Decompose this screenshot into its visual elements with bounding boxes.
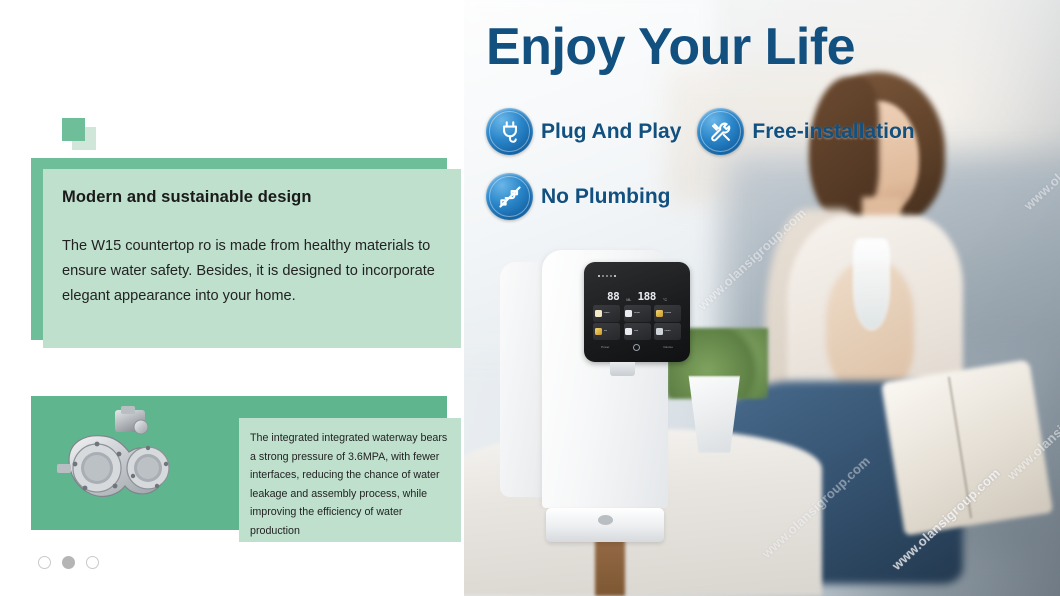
card-description: The integrated integrated waterway bears… <box>239 418 461 542</box>
preset-label: Milk <box>634 330 638 333</box>
bottle-icon <box>625 310 632 317</box>
product-banner: Modern and sustainable design The W15 co… <box>0 0 1060 596</box>
badge-label: Plug And Play <box>541 120 681 144</box>
wrench-screwdriver-icon <box>697 108 744 155</box>
volume-button-label[interactable]: Volume <box>663 345 673 349</box>
lock-icon <box>606 275 608 277</box>
alert-icon <box>610 275 612 277</box>
preset-button-coffee[interactable]: Coffee <box>654 305 681 321</box>
milk-icon <box>625 328 632 335</box>
decorative-square-front <box>62 118 85 141</box>
clean-icon <box>656 328 663 335</box>
filter-icon <box>602 275 604 277</box>
feature-card-waterway: The integrated integrated waterway bears… <box>31 396 461 542</box>
card-title: Modern and sustainable design <box>62 188 439 208</box>
badge-label: Free-installation <box>752 120 914 144</box>
preset-button-milk[interactable]: Milk <box>624 323 651 339</box>
preset-label: Water <box>603 312 609 315</box>
badge-row-1: Plug And Play Free-installation <box>486 108 1046 155</box>
status-bar <box>593 273 681 280</box>
preset-button-grid[interactable]: Water Bottle Coffee Tea <box>593 305 681 339</box>
purifier-control-panel[interactable]: 88 ML 188 °C Water Bottle <box>584 262 691 363</box>
signal-icon <box>614 275 616 277</box>
countertop-water-purifier: 88 ML 188 °C Water Bottle <box>500 250 691 530</box>
preset-label: Coffee <box>664 312 671 315</box>
preset-button-bottle[interactable]: Bottle <box>624 305 651 321</box>
carousel-dot-1[interactable] <box>38 556 51 569</box>
card-body: Modern and sustainable design The W15 co… <box>43 169 461 348</box>
badge-label: No Plumbing <box>541 185 671 209</box>
no-plumbing-icon <box>486 173 533 220</box>
left-info-panel: Modern and sustainable design The W15 co… <box>0 0 464 596</box>
right-lifestyle-panel: 88 ML 188 °C Water Bottle <box>464 0 1060 596</box>
cup-icon <box>595 310 602 317</box>
volume-unit: ML <box>626 298 631 302</box>
decorative-squares <box>62 118 102 152</box>
preset-label: Bottle <box>634 312 640 315</box>
carousel-dots[interactable] <box>38 556 99 569</box>
wifi-icon <box>598 275 600 277</box>
preset-label: Clean <box>664 330 670 333</box>
preset-button-clean[interactable]: Clean <box>654 323 681 339</box>
carousel-dot-3[interactable] <box>86 556 99 569</box>
hero-title: Enjoy Your Life <box>486 21 855 73</box>
feature-badges: Plug And Play Free-installation <box>486 108 1046 220</box>
coffee-icon <box>656 310 663 317</box>
card-description: The W15 countertop ro is made from healt… <box>62 234 439 309</box>
water-spout <box>610 362 635 376</box>
panel-footer[interactable]: Power Volume <box>593 342 681 351</box>
integrated-waterway-image <box>49 402 217 526</box>
digital-readout: 88 ML 188 °C <box>593 282 681 302</box>
badge-plug-and-play[interactable]: Plug And Play <box>486 108 681 155</box>
power-plug-icon <box>486 108 533 155</box>
badge-free-installation[interactable]: Free-installation <box>697 108 914 155</box>
tea-icon <box>595 328 602 335</box>
water-glass <box>853 238 890 329</box>
preset-button-tea[interactable]: Tea <box>593 323 620 339</box>
drip-tray-grate <box>598 515 613 525</box>
temperature-unit: °C <box>663 298 667 302</box>
preset-label: Tea <box>603 330 607 333</box>
temperature-value: 188 <box>638 291 656 302</box>
drip-tray <box>546 508 664 542</box>
book <box>881 359 1053 536</box>
feature-card-design: Modern and sustainable design The W15 co… <box>31 158 461 348</box>
badge-row-2: No Plumbing <box>486 173 1046 220</box>
carousel-dot-2[interactable] <box>62 556 75 569</box>
droplet-icon[interactable] <box>633 344 640 351</box>
power-button-label[interactable]: Power <box>601 345 609 349</box>
preset-button-water[interactable]: Water <box>593 305 620 321</box>
badge-no-plumbing[interactable]: No Plumbing <box>486 173 671 220</box>
volume-value: 88 <box>607 291 619 302</box>
